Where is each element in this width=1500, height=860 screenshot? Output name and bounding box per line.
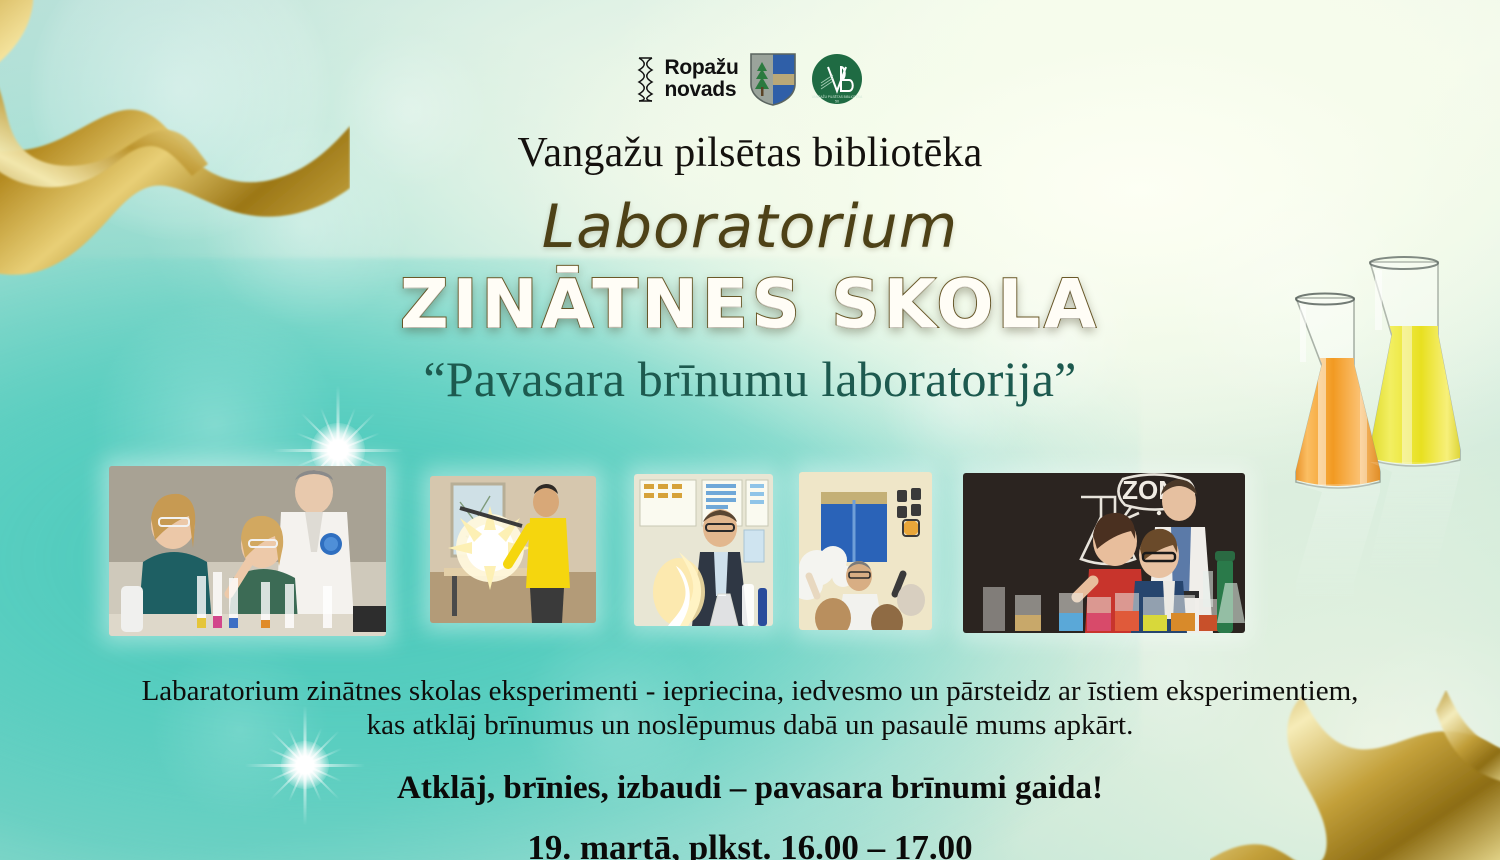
- photo-flame-demo: [430, 476, 596, 623]
- body-copy: Labaratorium zinātnes skolas eksperiment…: [0, 674, 1500, 742]
- event-datetime: 19. martā, plkst. 16.00 – 17.00: [0, 828, 1500, 860]
- photo-presenter-fire: [634, 474, 773, 626]
- photo-strip: ZONA: [0, 466, 1500, 642]
- coat-of-arms-icon: [749, 52, 797, 106]
- braid-ornament-icon: [637, 56, 654, 102]
- svg-text:50: 50: [835, 100, 839, 104]
- photo-audience-foam: [799, 472, 932, 630]
- photo-students-lab: [109, 466, 386, 636]
- photo-kids-colored-liquids: ZONA: [963, 473, 1245, 633]
- logo-row: Ropažu novads: [0, 52, 1500, 106]
- svg-text:VANGAŽU PILSĒTAS BIBLIOTĒKA: VANGAŽU PILSĒTAS BIBLIOTĒKA: [811, 94, 862, 99]
- body-line-2: kas atklāj brīnumus un noslēpumus dabā u…: [0, 708, 1500, 742]
- call-to-action: Atklāj, brīnies, izbaudi – pavasara brīn…: [0, 770, 1500, 807]
- body-line-1: Labaratorium zinātnes skolas eksperiment…: [0, 674, 1500, 708]
- vpb-library-logo-icon: VANGAŽU PILSĒTAS BIBLIOTĒKA 50: [811, 53, 863, 105]
- ropazu-novads-label: Ropažu novads: [664, 57, 738, 101]
- subtitle: “Pavasara brīnumu laboratorija”: [0, 350, 1500, 408]
- organization-title: Vangažu pilsētas bibliotēka: [0, 129, 1500, 177]
- ropazu-novads-logo: Ropažu novads: [637, 52, 796, 106]
- script-title: Laboratorium: [0, 192, 1500, 262]
- ropazu-line1: Ropažu: [664, 57, 738, 79]
- ropazu-line2: novads: [664, 79, 738, 101]
- poster-canvas: Ropažu novads: [0, 0, 1500, 860]
- main-title: ZINĀTNES SKOLA: [0, 265, 1500, 343]
